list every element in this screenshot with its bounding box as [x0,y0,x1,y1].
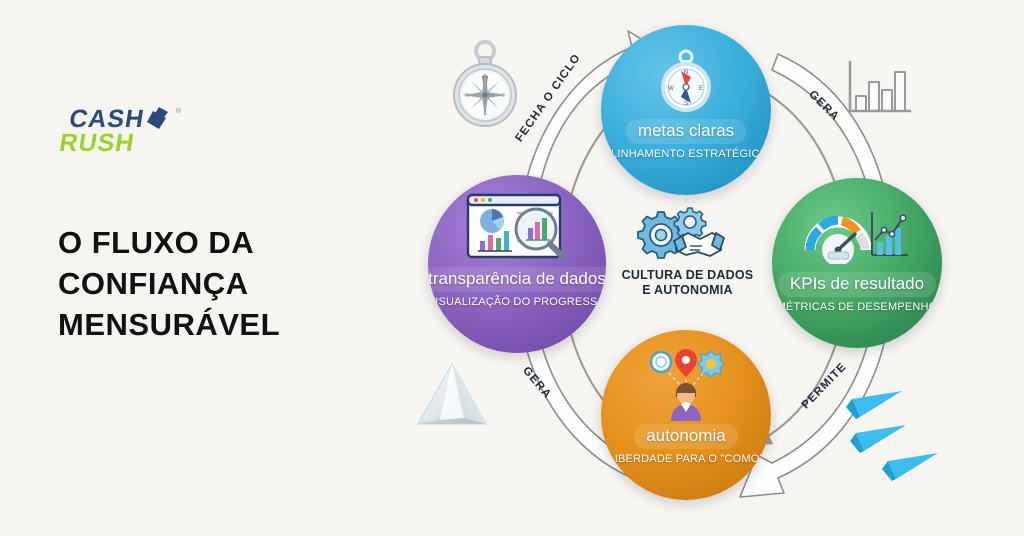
dashboard-magnifier-icon [462,189,572,267]
svg-text:RUSH: RUSH [58,129,137,157]
cash-rush-logo-icon: CASH RUSH ® [58,103,208,159]
node-subtitle: VISUALIZAÇÃO DO PROGRESSO [428,296,606,308]
node-transparencia-dados[interactable]: transparência de dados VISUALIZAÇÃO DO P… [428,175,606,353]
person-options-icon [643,346,729,424]
svg-text:®: ® [176,107,182,115]
node-subtitle: MÉTRICAS DE DESEMPENHO [777,301,938,313]
svg-text:W: W [465,93,470,99]
svg-text:S: S [684,101,688,107]
bar-chart-outline-icon [842,52,914,123]
paper-plane-icon [840,385,960,490]
compass-photo-icon: N S W E [442,33,528,134]
node-subtitle: LIBERDADE PARA O "COMO" [608,453,763,465]
headline-line-1: O FLUXO DA [58,222,388,263]
node-title: autonomia [634,424,737,449]
center-culture-block: CULTURA DE DADOS E AUTONOMIA [605,206,770,298]
center-label-line-1: CULTURA DE DADOS [605,268,770,283]
headline-line-3: MENSURÁVEL [58,304,388,345]
center-label: CULTURA DE DADOS E AUTONOMIA [605,268,770,298]
page-title: O FLUXO DA CONFIANÇA MENSURÁVEL [58,222,388,346]
svg-text:W: W [668,86,674,92]
node-kpis-resultado[interactable]: KPIs de resultado MÉTRICAS DE DESEMPENHO [772,178,942,348]
center-label-line-2: E AUTONOMIA [605,283,770,298]
node-title: metas claras [626,119,746,144]
node-title: transparência de dados [428,267,606,292]
node-title: KPIs de resultado [778,272,936,297]
compass-icon: N S W E [655,41,717,119]
headline-line-2: CONFIANÇA [58,263,388,304]
poster-canvas: CASH RUSH ® O FLUXO DA CONFIANÇA MENSURÁ… [0,0,1024,536]
svg-text:E: E [699,86,703,92]
speedometer-chart-icon [802,194,912,272]
gears-handshake-icon [605,206,770,264]
node-metas-claras[interactable]: N S W E metas claras ALINHAMENTO ESTRATÉ… [601,25,771,195]
glass-prism-icon [412,358,492,441]
node-subtitle: ALINHAMENTO ESTRATÉGICO [604,148,769,160]
svg-text:N: N [483,74,487,80]
cycle-diagram: N S W E metas claras ALINHAMENTO ESTRATÉ… [400,0,1024,536]
node-autonomia[interactable]: autonomia LIBERDADE PARA O "COMO" [601,330,771,500]
brand-logo: CASH RUSH ® [58,103,208,159]
